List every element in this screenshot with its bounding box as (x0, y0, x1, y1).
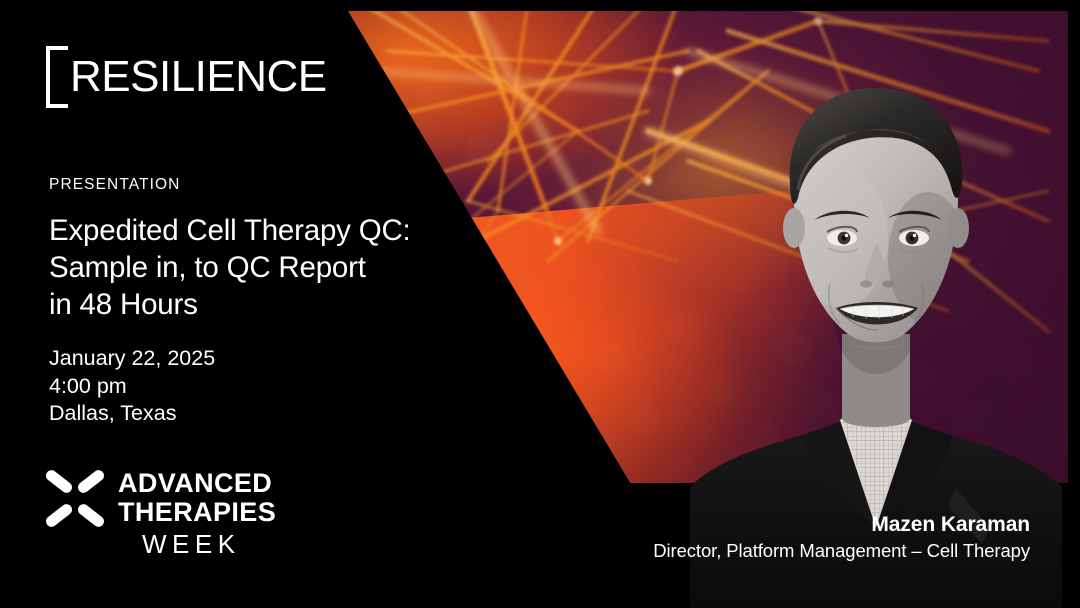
speaker-title: Director, Platform Management – Cell The… (653, 538, 1030, 563)
advanced-therapies-week-logo: ADVANCED THERAPIES WEEK (46, 468, 276, 561)
resilience-logo: RESILIENCE (46, 46, 327, 110)
presentation-promo-card: RESILIENCE PRESENTATION Expedited Cell T… (0, 0, 1080, 608)
session-location: Dallas, Texas (49, 400, 215, 428)
atw-line-week: WEEK (118, 527, 276, 561)
speaker-name: Mazen Karaman (653, 512, 1030, 538)
session-details: January 22, 2025 4:00 pm Dallas, Texas (49, 345, 215, 428)
atw-line-advanced: ADVANCED (118, 469, 276, 498)
session-title-line-2: Sample in, to QC Report (49, 249, 379, 286)
session-title-line-3: in 48 Hours (49, 286, 379, 323)
session-date: January 22, 2025 (49, 345, 215, 373)
session-title: Expedited Cell Therapy QC: Sample in, to… (49, 212, 379, 323)
speaker-caption: Mazen Karaman Director, Platform Managem… (653, 512, 1030, 563)
advanced-therapies-week-wordmark: ADVANCED THERAPIES WEEK (118, 468, 276, 561)
atw-line-therapies: THERAPIES (118, 498, 276, 527)
x-pinwheel-icon (46, 468, 104, 530)
eyebrow-label: PRESENTATION (49, 176, 180, 194)
bracket-icon (46, 46, 68, 108)
resilience-wordmark: RESILIENCE (70, 46, 327, 110)
session-time: 4:00 pm (49, 373, 215, 401)
session-title-line-1: Expedited Cell Therapy QC: (49, 212, 379, 249)
